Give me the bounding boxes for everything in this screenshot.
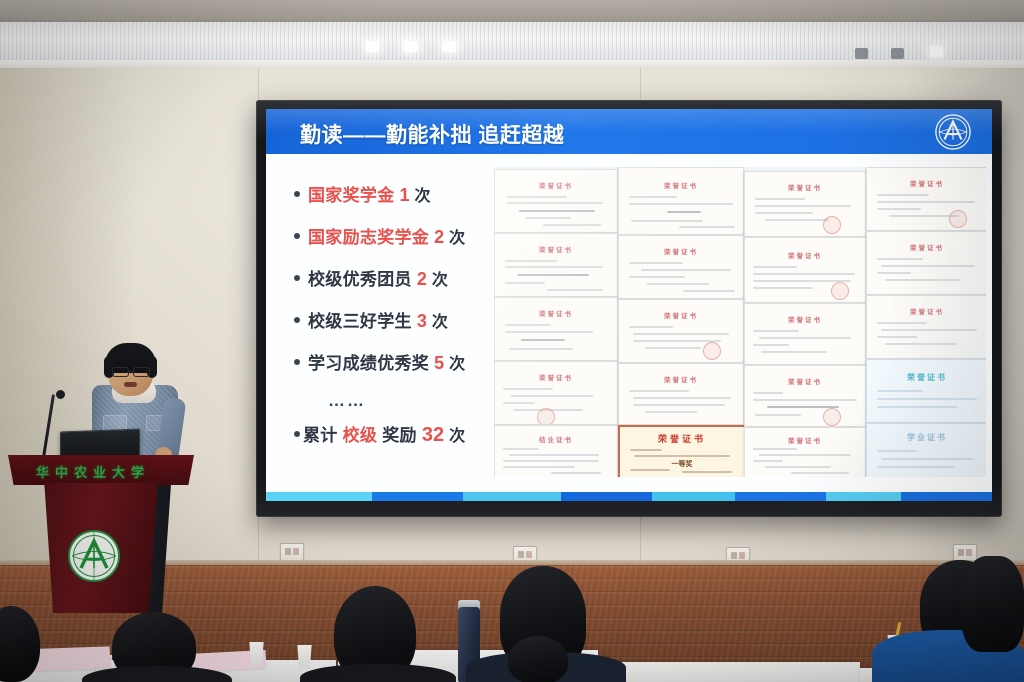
- total-middle: 奖励: [382, 421, 417, 446]
- footer-segment: [652, 492, 735, 501]
- bullet-label: 校级优秀团员: [308, 265, 412, 290]
- ceiling-light: [404, 41, 417, 52]
- footer-segment: [463, 492, 561, 501]
- certificate-title: 荣誉证书: [867, 306, 986, 316]
- bullet-unit: 次: [449, 350, 465, 374]
- certificate-title: 荣誉证书: [745, 182, 865, 192]
- footer-segment: [266, 492, 372, 501]
- achievement-bullet-list: 国家奖学金 1 次 国家励志奖学金 2 次 校级优秀团员 2 次: [294, 181, 509, 464]
- footer-segment: [372, 492, 463, 501]
- total-unit: 次: [449, 422, 465, 446]
- certificate-item: 荣誉证书: [744, 171, 866, 237]
- total-highlight: 校级: [343, 421, 378, 446]
- certificate-item: 荣誉证书: [866, 295, 986, 359]
- certificate-title: 荣誉证书: [867, 372, 986, 383]
- certificate-title: 结业证书: [495, 434, 617, 444]
- certificate-title: 荣誉证书: [495, 180, 617, 190]
- certificate-item: 荣誉证书: [618, 299, 744, 363]
- certificate-title: 荣誉证书: [745, 435, 865, 445]
- certificate-item: 荣誉证书: [618, 167, 744, 235]
- total-prefix: 累计: [303, 421, 338, 446]
- certificate-item: 荣誉证书: [494, 169, 618, 233]
- bullet-label: 学习成绩优秀奖: [308, 349, 429, 374]
- certificate-item: 荣誉证书: [618, 235, 744, 299]
- bullet-dot-icon: [294, 233, 300, 239]
- slide-title: 勤读——勤能补拙 追赶超越: [300, 119, 564, 149]
- bullet-dot-icon: [294, 191, 300, 197]
- certificate-item: 荣誉证书: [494, 297, 618, 361]
- certificate-item: 荣誉证书: [866, 359, 986, 423]
- certificate-title: 荣誉证书: [745, 250, 865, 260]
- certificate-collage: 荣誉证书 荣誉证书 荣誉证书: [494, 167, 986, 477]
- bullet-dot-icon: [294, 317, 300, 323]
- ceiling-light: [855, 48, 868, 59]
- certificate-title: 荣誉证书: [745, 314, 865, 324]
- bullet-unit: 次: [432, 308, 448, 332]
- certificate-item: 荣誉证书: [744, 365, 866, 427]
- certificate-title: 荣誉证书: [495, 308, 617, 318]
- glasses-icon: [112, 367, 150, 375]
- presentation-slide: 勤读——勤能补拙 追赶超越 国家奖学金 1 次: [266, 109, 992, 501]
- bullet-dot-icon: [294, 275, 300, 281]
- certificate-item: 荣誉证书: [744, 427, 866, 477]
- university-emblem-icon: [66, 528, 122, 584]
- certificate-item: 荣誉证书: [618, 363, 744, 425]
- bullet-dot-icon: [294, 431, 300, 437]
- microphone-head-icon: [56, 390, 65, 399]
- certificate-item: 学业证书: [866, 423, 986, 477]
- bullet-unit: 次: [449, 224, 465, 248]
- ceiling-light: [930, 46, 943, 57]
- certificate-title: 荣誉证书: [745, 376, 865, 386]
- bullet-count: 3: [417, 311, 427, 332]
- slide-footer-bar: [266, 492, 992, 501]
- certificate-item: 荣誉证书: [494, 361, 618, 425]
- certificate-title: 荣誉证书: [619, 374, 743, 384]
- lecture-hall-photo: 勤读——勤能补拙 追赶超越 国家奖学金 1 次: [0, 0, 1024, 682]
- audience-head: [962, 556, 1024, 652]
- certificate-rank: 一等奖: [620, 459, 744, 469]
- university-logo-icon: [934, 113, 972, 151]
- certificate-title: 荣誉证书: [495, 244, 617, 254]
- podium-university-name: 华中农业大学: [18, 462, 168, 481]
- bullet-item: 国家奖学金 1 次: [294, 181, 509, 206]
- audience-shoulders: [300, 664, 456, 682]
- bullet-ellipsis: ……: [328, 391, 509, 411]
- speaker-mouth: [124, 382, 137, 387]
- bullet-item-total: 累计 校级 奖励 32 次: [294, 421, 509, 447]
- bullet-label: 国家奖学金: [308, 181, 395, 206]
- bullet-count: 5: [434, 353, 444, 374]
- certificate-title: 学业证书: [867, 432, 986, 443]
- bullet-item: 学习成绩优秀奖 5 次: [294, 349, 509, 374]
- certificate-title: 荣誉证书: [619, 180, 743, 190]
- bullet-count: 1: [400, 185, 410, 206]
- certificate-item: 荣誉证书: [744, 237, 866, 303]
- certificate-item: 荣誉证书: [866, 231, 986, 295]
- footer-segment: [561, 492, 652, 501]
- bullet-count: 2: [417, 269, 427, 290]
- ceiling-light: [443, 41, 456, 52]
- bullet-label: 校级三好学生: [308, 307, 412, 332]
- ceiling-light: [366, 41, 379, 52]
- bullet-unit: 次: [415, 182, 431, 206]
- audience-table: [600, 662, 860, 682]
- footer-segment: [735, 492, 826, 501]
- bullet-item: 国家励志奖学金 2 次: [294, 223, 509, 248]
- certificate-title: 荣誉证书: [620, 432, 744, 445]
- bullet-unit: 次: [432, 266, 448, 290]
- certificate-item: 荣誉证书: [494, 233, 618, 297]
- certificate-item: 结业证书: [494, 425, 618, 477]
- footer-segment: [826, 492, 902, 501]
- bullet-label: 国家励志奖学金: [308, 223, 429, 248]
- projection-screen: 勤读——勤能补拙 追赶超越 国家奖学金 1 次: [256, 100, 1002, 517]
- certificate-item: 荣誉证书: [744, 303, 866, 365]
- bullet-count: 2: [434, 227, 444, 248]
- total-count: 32: [422, 424, 444, 447]
- certificate-item: 荣誉证书: [866, 167, 986, 231]
- footer-segment: [901, 492, 992, 501]
- certificate-item-highlighted: 荣誉证书 一等奖: [618, 425, 746, 477]
- certificate-title: 荣誉证书: [867, 178, 986, 188]
- wall-outlet: [280, 543, 304, 561]
- bullet-item: 校级三好学生 3 次: [294, 307, 509, 332]
- certificate-title: 荣誉证书: [867, 242, 986, 252]
- bullet-dot-icon: [294, 359, 300, 365]
- bullet-item: 校级优秀团员 2 次: [294, 265, 509, 290]
- ceiling-light: [891, 48, 904, 59]
- audience-head: [508, 636, 568, 682]
- certificate-title: 荣誉证书: [619, 310, 743, 320]
- certificate-title: 荣誉证书: [495, 372, 617, 382]
- certificate-title: 荣誉证书: [619, 246, 743, 256]
